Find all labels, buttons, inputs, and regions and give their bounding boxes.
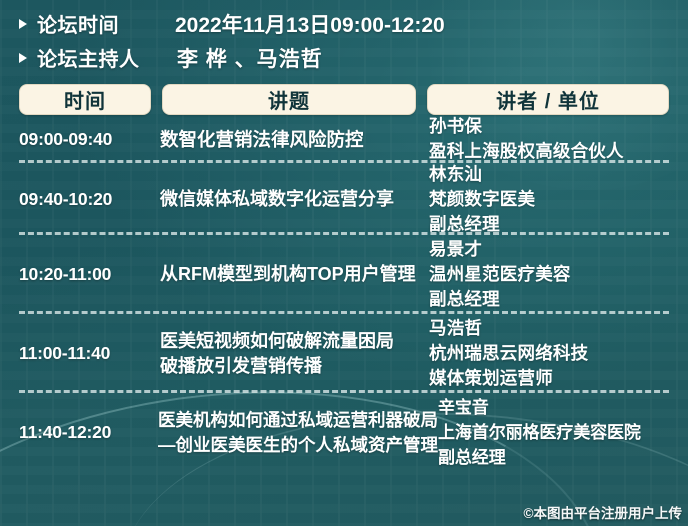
watermark: ©本图由平台注册用户上传 <box>524 502 682 522</box>
cell-topic: 医美短视频如何破解流量困局 破播放引发营销传播 <box>149 329 429 379</box>
forum-time-label: 论坛时间 <box>37 9 157 38</box>
cell-time: 10:20-11:00 <box>19 264 149 285</box>
agenda-table-body: 09:00-09:40 数智化营销法律风险防控 孙书保 盈科上海股权高级合伙人 … <box>0 115 688 472</box>
forum-time-value: 2022年11月13日09:00-12:20 <box>175 9 445 39</box>
cell-time: 11:40-12:20 <box>19 422 149 443</box>
speaker-affiliation: 上海首尔丽格医疗美容医院 <box>438 420 678 445</box>
topic-line-1: 从RFM模型到机构TOP用户管理 <box>160 262 429 287</box>
table-row: 11:40-12:20 医美机构如何通过私域运营利器破局 —创业医美医生的个人私… <box>19 393 669 472</box>
triangle-right-icon <box>19 53 27 63</box>
forum-host-value: 李 桦 、马浩哲 <box>177 43 323 73</box>
table-row: 09:00-09:40 数智化营销法律风险防控 孙书保 盈科上海股权高级合伙人 <box>19 115 669 163</box>
cell-time: 09:40-10:20 <box>19 189 149 210</box>
cell-time: 11:00-11:40 <box>19 343 149 364</box>
forum-meta-header: 论坛时间 2022年11月13日09:00-12:20 论坛主持人 李 桦 、马… <box>0 0 688 77</box>
column-header-speaker: 讲者 / 单位 <box>427 84 669 115</box>
forum-host-label: 论坛主持人 <box>37 43 177 72</box>
cell-speaker: 易景才 温州星范医疗美容 副总经理 <box>429 237 669 312</box>
forum-time-row: 论坛时间 2022年11月13日09:00-12:20 <box>19 9 688 43</box>
cell-speaker: 辛宝音 上海首尔丽格医疗美容医院 副总经理 <box>438 395 678 470</box>
cell-speaker: 林东汕 梵颜数字医美 副总经理 <box>429 162 669 237</box>
triangle-right-icon <box>19 19 27 29</box>
cell-topic: 数智化营销法律风险防控 <box>149 127 429 152</box>
agenda-table-header: 时间 讲题 讲者 / 单位 <box>0 84 688 115</box>
speaker-name: 孙书保 <box>429 114 669 139</box>
cell-speaker: 孙书保 盈科上海股权高级合伙人 <box>429 114 669 164</box>
speaker-affiliation: 梵颜数字医美 <box>429 187 669 212</box>
forum-agenda-poster: 论坛时间 2022年11月13日09:00-12:20 论坛主持人 李 桦 、马… <box>0 0 688 526</box>
topic-line-1: 医美机构如何通过私域运营利器破局 <box>158 408 438 433</box>
topic-line-1: 数智化营销法律风险防控 <box>160 127 429 152</box>
speaker-name: 易景才 <box>429 237 669 262</box>
column-header-topic: 讲题 <box>162 84 416 115</box>
speaker-title: 副总经理 <box>438 445 678 470</box>
cell-time: 09:00-09:40 <box>19 129 149 150</box>
speaker-title: 副总经理 <box>429 287 669 312</box>
topic-line-1: 微信媒体私域数字化运营分享 <box>160 187 429 212</box>
topic-line-1: 医美短视频如何破解流量困局 <box>160 329 429 354</box>
speaker-name: 马浩哲 <box>429 316 669 341</box>
cell-topic: 微信媒体私域数字化运营分享 <box>149 187 429 212</box>
table-row: 11:00-11:40 医美短视频如何破解流量困局 破播放引发营销传播 马浩哲 … <box>19 314 669 393</box>
speaker-name: 林东汕 <box>429 162 669 187</box>
cell-topic: 从RFM模型到机构TOP用户管理 <box>149 262 429 287</box>
speaker-affiliation: 温州星范医疗美容 <box>429 262 669 287</box>
table-row: 09:40-10:20 微信媒体私域数字化运营分享 林东汕 梵颜数字医美 副总经… <box>19 163 669 235</box>
speaker-name: 辛宝音 <box>438 395 678 420</box>
column-header-time: 时间 <box>19 84 151 115</box>
table-row: 10:20-11:00 从RFM模型到机构TOP用户管理 易景才 温州星范医疗美… <box>19 235 669 314</box>
cell-topic: 医美机构如何通过私域运营利器破局 —创业医美医生的个人私域资产管理 <box>149 408 438 458</box>
speaker-title: 媒体策划运营师 <box>429 366 669 391</box>
topic-line-2: 破播放引发营销传播 <box>160 354 429 379</box>
topic-line-2: —创业医美医生的个人私域资产管理 <box>158 433 438 458</box>
cell-speaker: 马浩哲 杭州瑞思云网络科技 媒体策划运营师 <box>429 316 669 391</box>
forum-host-row: 论坛主持人 李 桦 、马浩哲 <box>19 43 688 77</box>
speaker-affiliation: 杭州瑞思云网络科技 <box>429 341 669 366</box>
